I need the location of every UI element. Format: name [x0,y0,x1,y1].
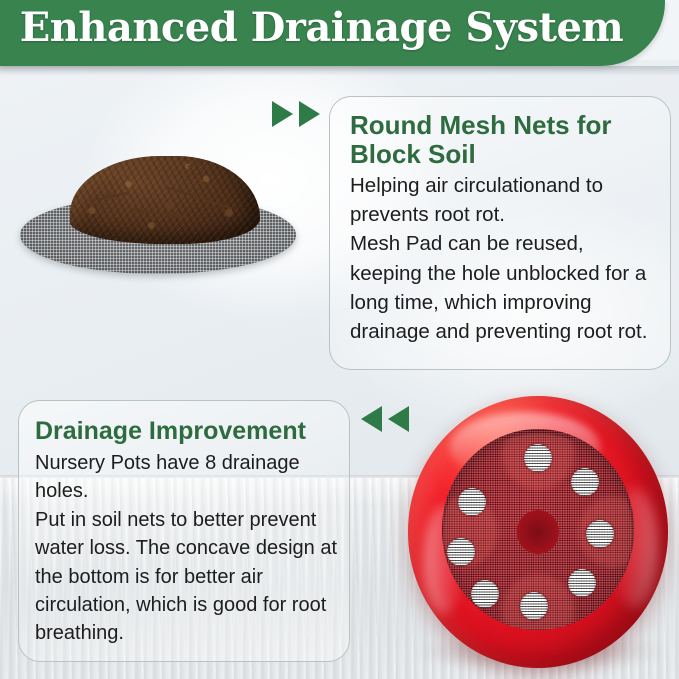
infographic-page: Enhanced Drainage System Round Mesh Nets… [0,0,679,679]
soil-pile [70,156,260,244]
drainage-hole [586,520,614,548]
pot-center-hub [517,510,559,554]
card-drainage-improvement: Drainage Improvement Nursery Pots have 8… [18,400,350,662]
page-title: Enhanced Drainage System [0,4,643,51]
header-banner: Enhanced Drainage System [0,0,665,66]
drainage-hole [520,592,548,620]
soil-twig [166,186,233,210]
drainage-hole [447,538,475,566]
arrow-left-icon [361,406,382,432]
drainage-hole [571,468,599,496]
card-title: Round Mesh Nets for Block Soil [330,97,670,169]
double-arrow-left-icon [361,406,409,432]
drainage-hole [458,488,486,516]
red-nursery-pot-photo [408,396,679,676]
arrow-right-icon [272,101,293,127]
arrow-right-icon [299,101,320,127]
pot-outer-rim [408,396,668,668]
card-title: Drainage Improvement [19,401,349,445]
arrow-left-icon [388,406,409,432]
banner-drop-shadow [0,66,679,76]
double-arrow-right-icon [272,101,320,127]
drainage-hole [568,569,596,597]
card-body: Helping air circulationand to prevents r… [330,169,670,346]
soil-twig [90,192,130,202]
mesh-net-with-soil-photo [8,140,308,290]
soil-twig [130,208,188,218]
card-round-mesh-nets: Round Mesh Nets for Block Soil Helping a… [329,96,671,370]
drainage-hole [524,444,552,472]
soil-twig [188,156,235,168]
drainage-hole [471,580,499,608]
card-body: Nursery Pots have 8 drainage holes. Put … [19,445,349,648]
